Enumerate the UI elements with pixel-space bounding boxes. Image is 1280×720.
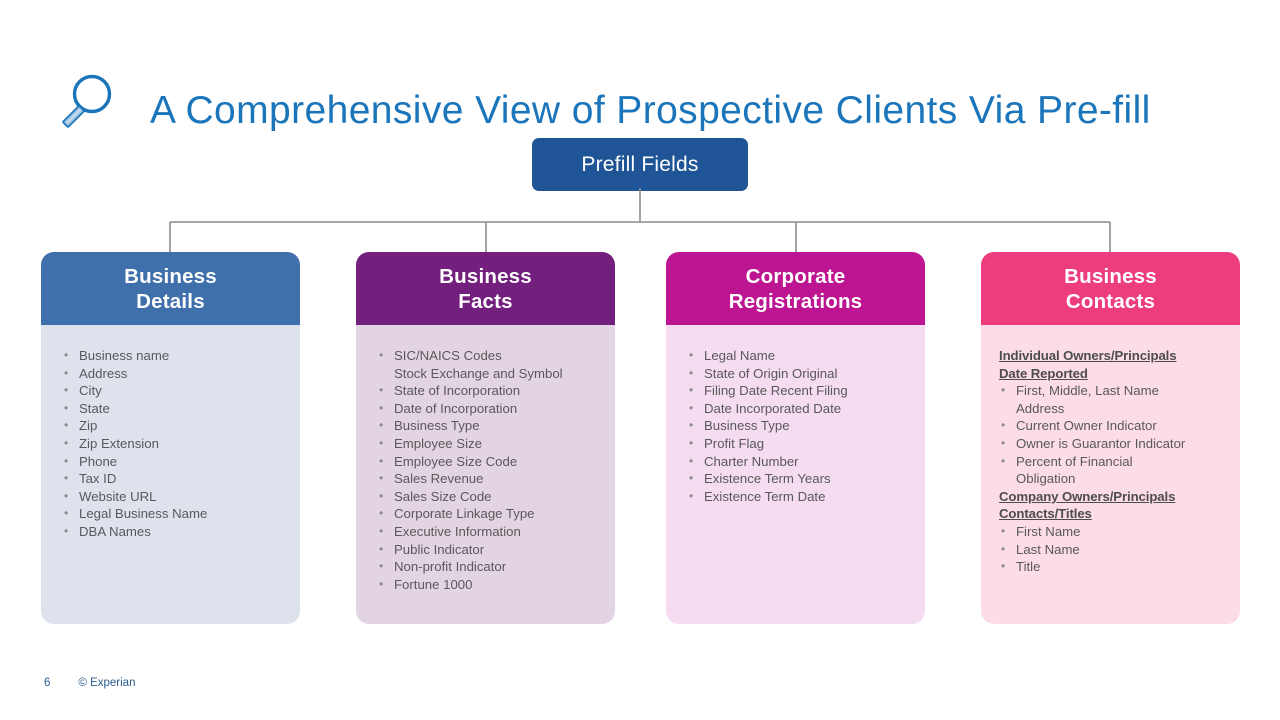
list-item-label: DBA Names	[79, 524, 151, 539]
list-item-label: Executive Information	[394, 524, 521, 539]
column-business-details[interactable]: Business Details •Business name •Address…	[41, 252, 300, 624]
bullet-icon: •	[64, 470, 68, 488]
column-title-line1: Corporate	[746, 264, 846, 289]
list-item: •Website URL	[62, 488, 290, 506]
list-item-label: Sales Size Code	[394, 489, 492, 504]
column-title-line2: Details	[136, 289, 205, 314]
list-item: •State	[62, 400, 290, 418]
bullet-icon: •	[379, 435, 383, 453]
bullet-icon: •	[689, 382, 693, 400]
column-business-facts[interactable]: Business Facts •SIC/NAICS Codes Stock Ex…	[356, 252, 615, 624]
list-item-label: State of Origin Original	[704, 366, 837, 381]
list-item: •Fortune 1000	[377, 576, 605, 594]
list-item: •Sales Size Code	[377, 488, 605, 506]
list-item: •Employee Size Code	[377, 453, 605, 471]
list-item-label: First Name	[1016, 524, 1080, 539]
list-subheading: Company Owners/Principals	[999, 488, 1230, 506]
bullet-icon: •	[689, 417, 693, 435]
bullet-icon: •	[689, 435, 693, 453]
list-item-label: Business Type	[394, 418, 480, 433]
list-item-label: Website URL	[79, 489, 156, 504]
bullet-icon: •	[64, 523, 68, 541]
list-item-label: Last Name	[1016, 542, 1080, 557]
list-item-label: Legal Name	[704, 348, 775, 363]
list-item: •Profit Flag	[687, 435, 915, 453]
list-item: •State of Origin Original	[687, 365, 915, 383]
bullet-icon: •	[1001, 523, 1005, 541]
list-item-label: Percent of Financial	[1016, 454, 1133, 469]
list-item: •Existence Term Years	[687, 470, 915, 488]
list-item-label: Address	[79, 366, 127, 381]
bullet-icon: •	[64, 347, 68, 365]
column-business-contacts[interactable]: Business Contacts Individual Owners/Prin…	[981, 252, 1240, 624]
list-item-label: Zip	[79, 418, 97, 433]
bullet-icon: •	[64, 365, 68, 383]
list-item-label: Corporate Linkage Type	[394, 506, 535, 521]
column-header-business-contacts: Business Contacts	[981, 252, 1240, 325]
list-item-label: Filing Date Recent Filing	[704, 383, 848, 398]
list-item-label: State	[79, 401, 110, 416]
column-corporate-registrations[interactable]: Corporate Registrations •Legal Name •Sta…	[666, 252, 925, 624]
list-item-continuation: Obligation	[999, 470, 1230, 488]
list-item-label: First, Middle, Last Name	[1016, 383, 1159, 398]
list-item-label: SIC/NAICS Codes	[394, 348, 502, 363]
bullet-icon: •	[379, 523, 383, 541]
list-subheading: Contacts/Titles	[999, 505, 1230, 523]
list-item: •Executive Information	[377, 523, 605, 541]
bullet-icon: •	[379, 541, 383, 559]
list-item-label: Existence Term Years	[704, 471, 831, 486]
bullet-icon: •	[1001, 435, 1005, 453]
list-item-label: Title	[1016, 559, 1040, 574]
list-item-label: Address	[1016, 401, 1064, 416]
list-item-label: Zip Extension	[79, 436, 159, 451]
column-header-corporate-registrations: Corporate Registrations	[666, 252, 925, 325]
list-item: •City	[62, 382, 290, 400]
list-item: •Business Type	[377, 417, 605, 435]
list-item-label: Employee Size	[394, 436, 482, 451]
bullet-icon: •	[379, 347, 383, 365]
list-item: •Percent of Financial	[999, 453, 1230, 471]
bullet-icon: •	[379, 453, 383, 471]
bullet-icon: •	[1001, 453, 1005, 471]
column-title-line2: Contacts	[1066, 289, 1155, 314]
list-item: •State of Incorporation	[377, 382, 605, 400]
list-item: •First Name	[999, 523, 1230, 541]
column-title-line1: Business	[1064, 264, 1157, 289]
list-item: •Business name	[62, 347, 290, 365]
list-item-label: State of Incorporation	[394, 383, 520, 398]
list-item: •Public Indicator	[377, 541, 605, 559]
bullet-icon: •	[379, 558, 383, 576]
list-item-label: Date of Incorporation	[394, 401, 517, 416]
bullet-icon: •	[379, 417, 383, 435]
list-item-label: Legal Business Name	[79, 506, 207, 521]
list-item-label: Tax ID	[79, 471, 116, 486]
column-header-business-facts: Business Facts	[356, 252, 615, 325]
bullet-icon: •	[64, 453, 68, 471]
bullet-icon: •	[1001, 541, 1005, 559]
list-item-label: Profit Flag	[704, 436, 764, 451]
list-item: •Zip Extension	[62, 435, 290, 453]
page-title: A Comprehensive View of Prospective Clie…	[150, 82, 1151, 140]
list-item: •Legal Name	[687, 347, 915, 365]
bullet-icon: •	[1001, 382, 1005, 400]
bullet-icon: •	[64, 400, 68, 418]
list-item-label: Obligation	[1016, 471, 1075, 486]
column-header-business-details: Business Details	[41, 252, 300, 325]
list-item-label: Date Incorporated Date	[704, 401, 841, 416]
list-item: •Business Type	[687, 417, 915, 435]
bullet-icon: •	[379, 470, 383, 488]
list-item: •Current Owner Indicator	[999, 417, 1230, 435]
copyright-notice: © Experian	[78, 677, 135, 689]
list-item: •Non-profit Indicator	[377, 558, 605, 576]
list-item: •Sales Revenue	[377, 470, 605, 488]
list-item-label: Charter Number	[704, 454, 799, 469]
list-item-label: Non-profit Indicator	[394, 559, 506, 574]
list-item-label: Employee Size Code	[394, 454, 517, 469]
search-icon	[52, 70, 118, 136]
bullet-icon: •	[379, 576, 383, 594]
page-number: 6	[44, 677, 50, 689]
list-item: •First, Middle, Last Name	[999, 382, 1230, 400]
list-item-label: Public Indicator	[394, 542, 484, 557]
list-item: •Address	[62, 365, 290, 383]
bullet-icon: •	[64, 417, 68, 435]
list-item: •Date of Incorporation	[377, 400, 605, 418]
column-body-business-facts: •SIC/NAICS Codes Stock Exchange and Symb…	[356, 325, 615, 624]
bullet-icon: •	[64, 435, 68, 453]
list-subheading: Individual Owners/Principals	[999, 347, 1230, 365]
bullet-icon: •	[689, 347, 693, 365]
bullet-icon: •	[379, 505, 383, 523]
bullet-icon: •	[689, 365, 693, 383]
list-item: •Employee Size	[377, 435, 605, 453]
list-item-label: Sales Revenue	[394, 471, 483, 486]
bullet-icon: •	[689, 488, 693, 506]
bullet-icon: •	[379, 382, 383, 400]
title-row: A Comprehensive View of Prospective Clie…	[0, 34, 1280, 124]
bullet-icon: •	[689, 453, 693, 471]
list-subheading: Date Reported	[999, 365, 1230, 383]
list-item: •DBA Names	[62, 523, 290, 541]
list-item-label: Existence Term Date	[704, 489, 825, 504]
list-item-label: Stock Exchange and Symbol	[394, 366, 563, 381]
list-item: •Phone	[62, 453, 290, 471]
list-item-label: Owner is Guarantor Indicator	[1016, 436, 1185, 451]
column-title-line1: Business	[439, 264, 532, 289]
list-item-label: Business name	[79, 348, 169, 363]
column-body-business-contacts: Individual Owners/Principals Date Report…	[981, 325, 1240, 624]
list-item: •SIC/NAICS Codes	[377, 347, 605, 365]
list-item: •Tax ID	[62, 470, 290, 488]
list-item-continuation: Stock Exchange and Symbol	[377, 365, 605, 383]
list-item: •Owner is Guarantor Indicator	[999, 435, 1230, 453]
bullet-icon: •	[379, 400, 383, 418]
list-item: •Title	[999, 558, 1230, 576]
bullet-icon: •	[689, 470, 693, 488]
list-item-label: Current Owner Indicator	[1016, 418, 1157, 433]
column-title-line2: Registrations	[729, 289, 863, 314]
bullet-icon: •	[1001, 558, 1005, 576]
list-item: •Date Incorporated Date	[687, 400, 915, 418]
list-item-continuation: Address	[999, 400, 1230, 418]
list-item-label: City	[79, 383, 102, 398]
list-item: •Corporate Linkage Type	[377, 505, 605, 523]
list-item: •Legal Business Name	[62, 505, 290, 523]
bullet-icon: •	[64, 488, 68, 506]
slide-footer: 6 © Experian	[0, 670, 1280, 696]
list-item: •Existence Term Date	[687, 488, 915, 506]
list-item: •Last Name	[999, 541, 1230, 559]
list-item-label: Fortune 1000	[394, 577, 472, 592]
bullet-icon: •	[689, 400, 693, 418]
category-columns: Business Details •Business name •Address…	[0, 252, 1280, 624]
list-item: •Filing Date Recent Filing	[687, 382, 915, 400]
column-body-business-details: •Business name •Address •City •State •Zi…	[41, 325, 300, 624]
column-body-corporate-registrations: •Legal Name •State of Origin Original •F…	[666, 325, 925, 624]
column-title-line1: Business	[124, 264, 217, 289]
connector-lines	[0, 188, 1280, 260]
list-item: •Zip	[62, 417, 290, 435]
list-item-label: Business Type	[704, 418, 790, 433]
list-item: •Charter Number	[687, 453, 915, 471]
bullet-icon: •	[379, 488, 383, 506]
bullet-icon: •	[1001, 417, 1005, 435]
bullet-icon: •	[64, 505, 68, 523]
bullet-icon: •	[64, 382, 68, 400]
slide-canvas: A Comprehensive View of Prospective Clie…	[0, 0, 1280, 720]
prefill-fields-node[interactable]: Prefill Fields	[532, 138, 748, 191]
list-item-label: Phone	[79, 454, 117, 469]
column-title-line2: Facts	[458, 289, 513, 314]
prefill-fields-label: Prefill Fields	[581, 153, 698, 177]
